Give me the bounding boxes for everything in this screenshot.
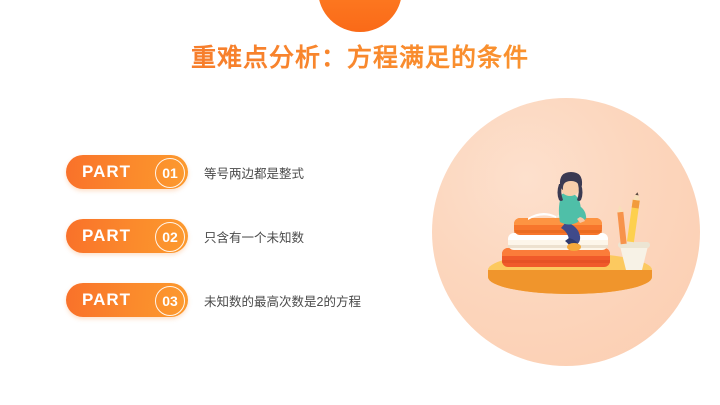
list-item[interactable]: PART 03 未知数的最高次数是2的方程 bbox=[66, 283, 486, 317]
part-number: 03 bbox=[162, 293, 178, 309]
part-number-circle: 02 bbox=[155, 222, 185, 252]
page-title: 重难点分析：方程满足的条件 bbox=[0, 38, 720, 74]
part-badge-03: PART 03 bbox=[66, 283, 188, 317]
part-badge-02: PART 02 bbox=[66, 219, 188, 253]
list-item[interactable]: PART 01 等号两边都是整式 bbox=[66, 155, 486, 189]
part-label: PART bbox=[82, 226, 131, 246]
part-number: 01 bbox=[162, 165, 178, 181]
part-text: 未知数的最高次数是2的方程 bbox=[204, 291, 361, 310]
part-list: PART 01 等号两边都是整式 PART 02 只含有一个未知数 PART 0… bbox=[66, 155, 486, 347]
part-text: 等号两边都是整式 bbox=[204, 163, 304, 182]
girl-reading-on-books-illustration bbox=[470, 150, 680, 300]
part-number-circle: 03 bbox=[155, 286, 185, 316]
list-item[interactable]: PART 02 只含有一个未知数 bbox=[66, 219, 486, 253]
part-number-circle: 01 bbox=[155, 158, 185, 188]
part-badge-01: PART 01 bbox=[66, 155, 188, 189]
orange-half-circle-decoration bbox=[318, 0, 402, 32]
part-label: PART bbox=[82, 162, 131, 182]
part-text: 只含有一个未知数 bbox=[204, 227, 304, 246]
part-label: PART bbox=[82, 290, 131, 310]
part-number: 02 bbox=[162, 229, 178, 245]
slide-canvas: 重难点分析：方程满足的条件 PART 01 等号两边都是整式 PART 02 只… bbox=[0, 0, 720, 405]
